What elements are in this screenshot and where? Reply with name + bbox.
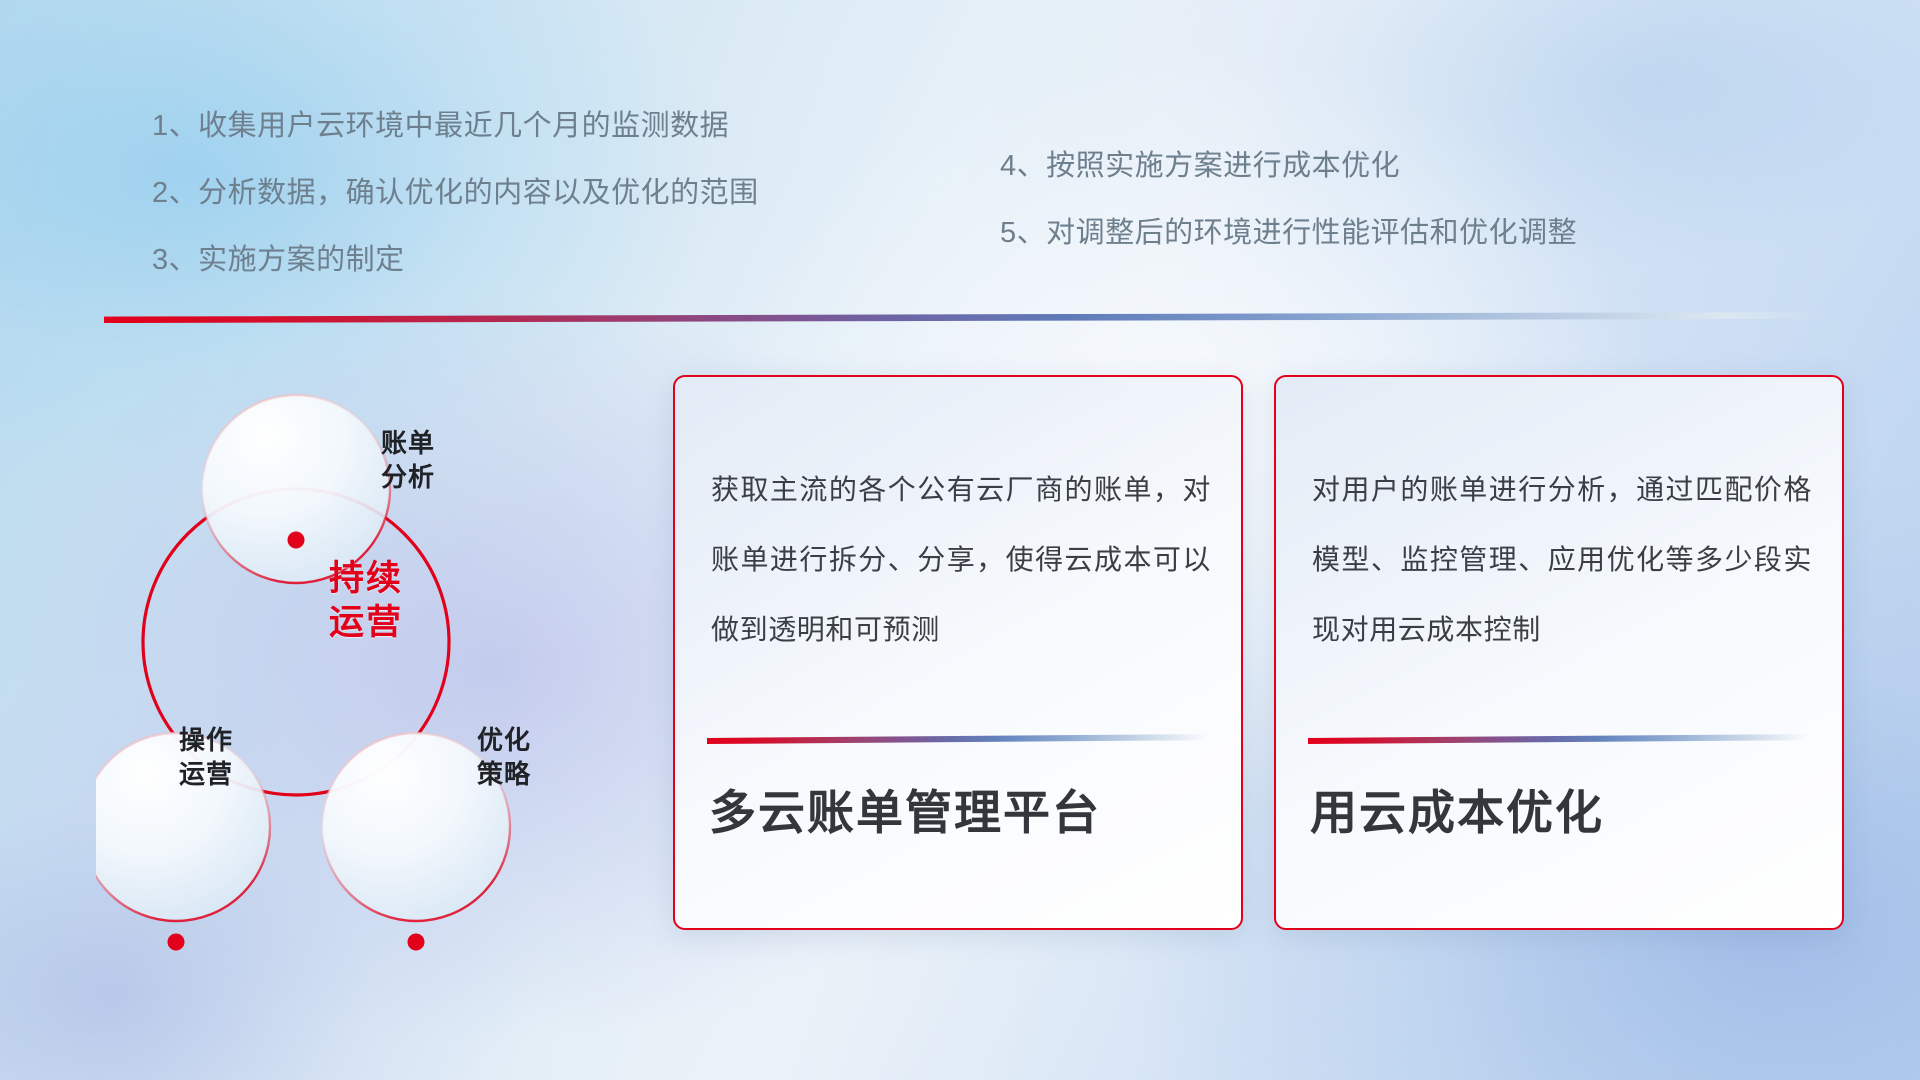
venn-center-label: 持续 运营 xyxy=(266,557,466,645)
feature-card-title: 用云成本优化 xyxy=(1310,787,1818,840)
feature-card-divider xyxy=(1308,734,1808,744)
venn-node-dot-lower-right xyxy=(408,934,425,951)
venn-label-left: 操作 运营 xyxy=(116,724,296,792)
venn-label-right: 优化 策略 xyxy=(414,724,594,792)
venn-diagram: 账单 分析 操作 运营 优化 策略 持续 运营 xyxy=(96,352,616,952)
feature-card-title: 多云账单管理平台 xyxy=(709,787,1217,840)
step-item-2: 2、分析数据，确认优化的内容以及优化的范围 xyxy=(152,179,759,208)
feature-card-cost-optimization[interactable]: 对用户的账单进行分析，通过匹配价格模型、监控管理、应用优化等多少段实现对用云成本… xyxy=(1274,375,1844,930)
venn-label-top: 账单 分析 xyxy=(318,427,498,495)
section-divider-bar xyxy=(104,312,1824,323)
steps-left-column: 1、收集用户云环境中最近几个月的监测数据 2、分析数据，确认优化的内容以及优化的… xyxy=(152,112,759,275)
feature-card-divider xyxy=(707,734,1207,744)
feature-card-body: 获取主流的各个公有云厂商的账单，对账单进行拆分、分享，使得云成本可以做到透明和可… xyxy=(711,455,1211,665)
step-item-5: 5、对调整后的环境进行性能评估和优化调整 xyxy=(1000,219,1577,248)
feature-card-divider-bar xyxy=(707,734,1207,744)
feature-card-body: 对用户的账单进行分析，通过匹配价格模型、监控管理、应用优化等多少段实现对用云成本… xyxy=(1312,455,1812,665)
step-item-4: 4、按照实施方案进行成本优化 xyxy=(1000,152,1577,181)
section-divider xyxy=(104,312,1824,323)
venn-node-dot-lower-left xyxy=(168,934,185,951)
step-item-3: 3、实施方案的制定 xyxy=(152,246,759,275)
venn-node-dot-upper xyxy=(288,532,305,549)
step-item-1: 1、收集用户云环境中最近几个月的监测数据 xyxy=(152,112,759,141)
feature-card-multicloud-billing[interactable]: 获取主流的各个公有云厂商的账单，对账单进行拆分、分享，使得云成本可以做到透明和可… xyxy=(673,375,1243,930)
steps-section: 1、收集用户云环境中最近几个月的监测数据 2、分析数据，确认优化的内容以及优化的… xyxy=(0,0,1920,300)
steps-right-column: 4、按照实施方案进行成本优化 5、对调整后的环境进行性能评估和优化调整 xyxy=(1000,152,1577,248)
feature-card-divider-bar xyxy=(1308,734,1808,744)
slide-root: 1、收集用户云环境中最近几个月的监测数据 2、分析数据，确认优化的内容以及优化的… xyxy=(0,0,1920,1080)
